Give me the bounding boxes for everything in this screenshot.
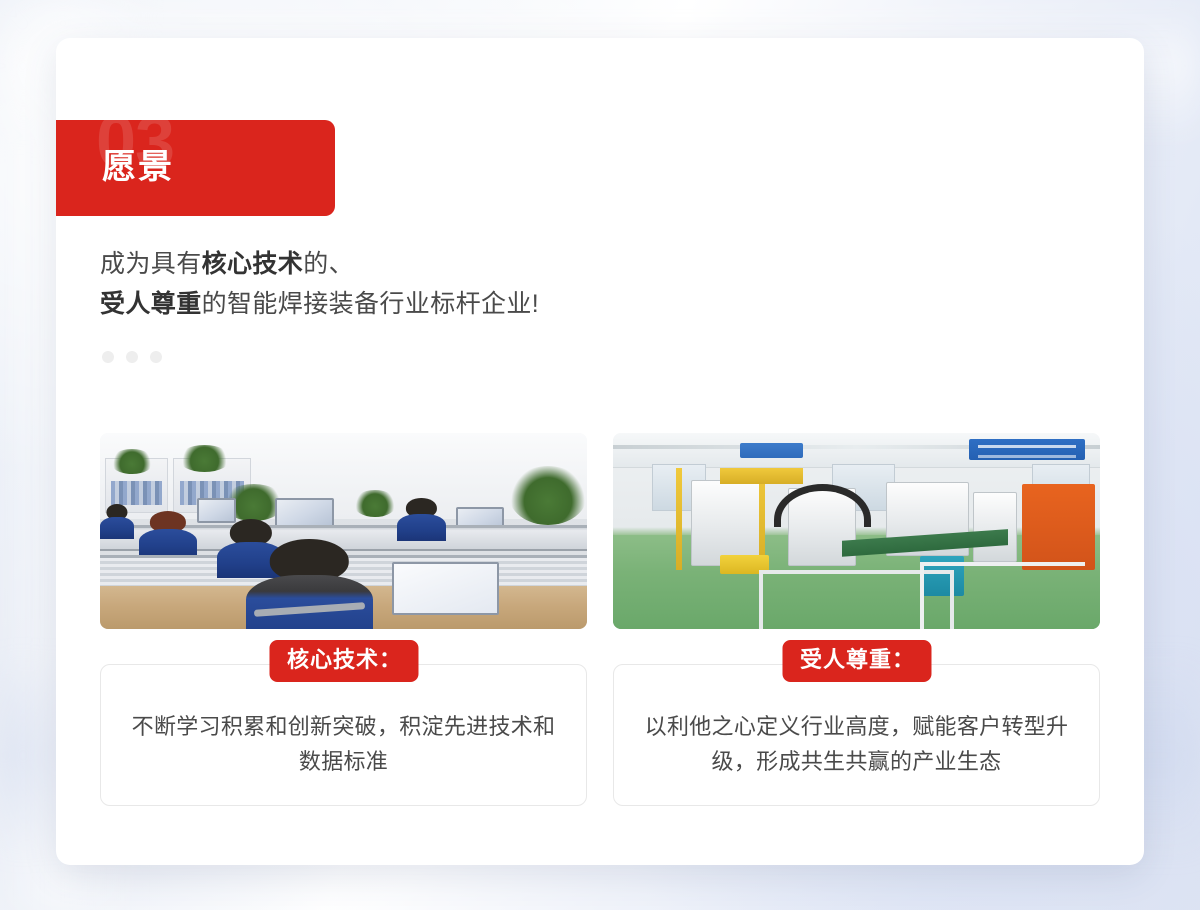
vision-line2-strong: 受人尊重	[100, 290, 202, 318]
office-worker	[100, 504, 134, 539]
dot-icon	[102, 351, 114, 363]
welding-machine	[691, 480, 764, 566]
dot-icon	[150, 351, 162, 363]
respect-block: 受人尊重： 以利他之心定义行业高度，赋能客户转型升级，形成共生共赢的产业生态	[613, 664, 1100, 806]
feature-column-core-technology: 核心技术： 不断学习积累和创新突破，积淀先进技术和数据标准	[100, 433, 587, 806]
respect-description: 以利他之心定义行业高度，赋能客户转型升级，形成共生共赢的产业生态	[613, 664, 1100, 806]
decorative-dots	[102, 351, 162, 363]
feature-columns: 核心技术： 不断学习积累和创新突破，积淀先进技术和数据标准	[100, 433, 1100, 806]
badge-respect: 受人尊重：	[782, 640, 931, 682]
office-shelf-files	[111, 481, 162, 505]
office-worker-foreground	[246, 539, 373, 629]
orange-cabinet	[1022, 484, 1095, 570]
badge-core-technology: 核心技术：	[269, 640, 418, 682]
vision-line1-suffix: 的、	[303, 250, 354, 278]
section-banner: 03 愿景	[56, 120, 335, 216]
office-worker	[397, 498, 446, 541]
office-worker	[139, 511, 197, 558]
feature-column-respect: 受人尊重： 以利他之心定义行业高度，赋能客户转型升级，形成共生共赢的产业生态	[613, 433, 1100, 806]
vision-line1-strong: 核心技术	[202, 250, 304, 278]
machine-frame	[920, 562, 1086, 629]
core-technology-block: 核心技术： 不断学习积累和创新突破，积淀先进技术和数据标准	[100, 664, 587, 806]
core-technology-description: 不断学习积累和创新突破，积淀先进技术和数据标准	[100, 664, 587, 806]
vision-statement: 成为具有核心技术的、 受人尊重的智能焊接装备行业标杆企业!	[100, 244, 539, 324]
monitor-icon	[392, 562, 499, 615]
plant-icon	[509, 466, 587, 525]
dot-icon	[126, 351, 138, 363]
safety-rail	[720, 468, 803, 484]
vision-line-2: 受人尊重的智能焊接装备行业标杆企业!	[100, 284, 539, 324]
safety-post	[676, 468, 682, 570]
vision-line2-suffix: 的智能焊接装备行业标杆企业!	[202, 290, 540, 318]
welding-machine	[973, 492, 1017, 563]
content-panel: 03 愿景 成为具有核心技术的、 受人尊重的智能焊接装备行业标杆企业!	[56, 38, 1144, 865]
factory-photo	[613, 433, 1100, 629]
plant-icon	[353, 490, 397, 517]
plant-icon	[110, 449, 154, 474]
office-photo	[100, 433, 587, 629]
vision-line1-prefix: 成为具有	[100, 250, 202, 278]
vision-line-1: 成为具有核心技术的、	[100, 244, 539, 284]
factory-wall-sign	[740, 443, 803, 459]
section-title: 愿景	[102, 149, 174, 186]
factory-wall-banner	[969, 439, 1086, 461]
